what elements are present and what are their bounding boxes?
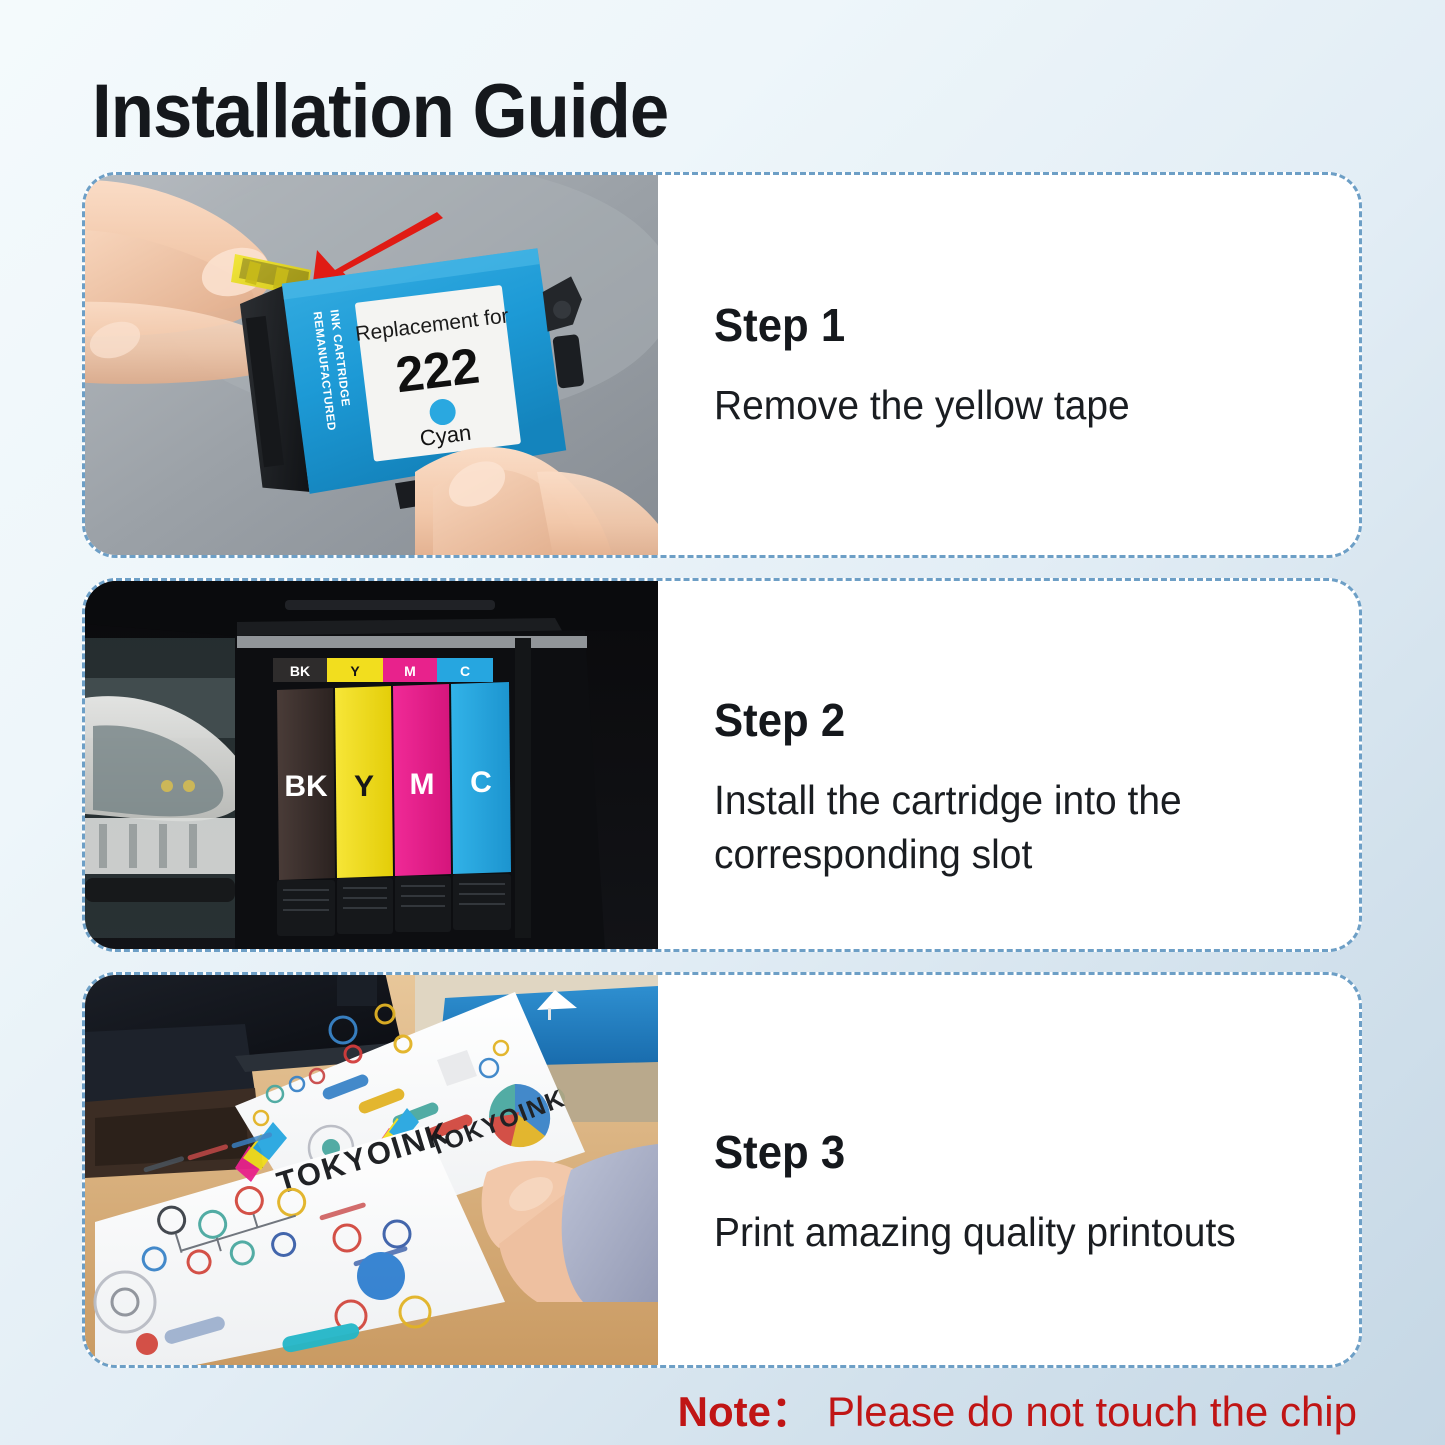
printer-carriage-slots-illustration: BK Y M C BK Y M: [85, 581, 658, 949]
step-3-text: Step 3 Print amazing quality printouts: [658, 975, 1359, 1365]
cartridge-label-number: 222: [393, 337, 483, 403]
cartridge-BK: BK: [277, 688, 335, 880]
step-2-title: Step 2: [714, 693, 1327, 747]
step-2-photo: BK Y M C BK Y M: [85, 581, 658, 949]
step-3-photo: TOKYOINK TOKYOINK: [85, 975, 658, 1365]
svg-text:BK: BK: [284, 770, 328, 803]
step-1-text: Step 1 Remove the yellow tape: [658, 175, 1359, 555]
cartridge-Y: Y: [335, 686, 393, 878]
svg-text:M: M: [410, 768, 435, 801]
svg-text:Y: Y: [350, 663, 360, 679]
svg-text:C: C: [470, 766, 492, 799]
step-card-2: BK Y M C BK Y M: [82, 578, 1362, 952]
step-1-photo: REMANUFACTURED INK CARTRIDGE Replacement…: [85, 175, 658, 555]
svg-text:Y: Y: [354, 770, 374, 803]
cartridge-M: M: [393, 684, 451, 876]
page-title: Installation Guide: [92, 68, 668, 155]
step-card-1: REMANUFACTURED INK CARTRIDGE Replacement…: [82, 172, 1362, 558]
installation-guide-page: Installation Guide: [0, 0, 1445, 1445]
step-1-description: Remove the yellow tape: [714, 378, 1327, 432]
note-label: Note：: [678, 1388, 813, 1435]
svg-text:BK: BK: [290, 663, 310, 679]
step-2-description: Install the cartridge into the correspon…: [714, 773, 1327, 881]
note-text: Please do not touch the chip: [827, 1388, 1357, 1435]
step-card-3: TOKYOINK TOKYOINK: [82, 972, 1362, 1368]
cartridge-label-strip: BK Y M C: [273, 658, 493, 682]
step-3-title: Step 3: [714, 1125, 1327, 1179]
cartridge-C: C: [451, 682, 511, 874]
printed-sheets-illustration: TOKYOINK TOKYOINK: [85, 975, 658, 1365]
step-1-title: Step 1: [714, 298, 1327, 352]
hand-holding-cartridge-illustration: REMANUFACTURED INK CARTRIDGE Replacement…: [85, 175, 658, 555]
svg-text:C: C: [460, 663, 470, 679]
step-3-description: Print amazing quality printouts: [714, 1205, 1327, 1259]
step-2-text: Step 2 Install the cartridge into the co…: [658, 581, 1359, 949]
svg-text:M: M: [404, 663, 416, 679]
note-line: Note：Please do not touch the chip: [0, 1378, 1357, 1439]
